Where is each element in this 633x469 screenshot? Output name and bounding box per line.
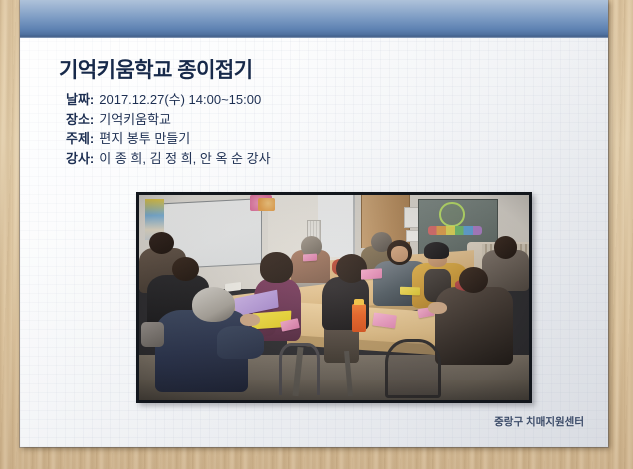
desk-wood-frame: 기억키움학교 종이접기 날짜: 2017.12.27(수) 14:00~15:0… <box>0 0 633 469</box>
photo-person-front-left-head <box>192 287 235 322</box>
photo-chair-right <box>385 339 442 398</box>
photo-person-front-left-hand <box>240 314 260 326</box>
footer-organization: 중랑구 치매지원센터 <box>494 414 584 429</box>
info-value-place: 기억키움학교 <box>99 110 171 130</box>
activity-photo-frame <box>136 192 532 403</box>
info-row-instructors: 강사: 이 종 희, 김 정 희, 안 옥 순 강사 <box>66 149 486 169</box>
info-row-date: 날짜: 2017.12.27(수) 14:00~15:00 <box>66 90 486 110</box>
photo-board-color-dots <box>428 226 483 235</box>
info-list: 날짜: 2017.12.27(수) 14:00~15:00 장소: 기억키움학교… <box>66 90 486 168</box>
activity-photo <box>139 195 529 400</box>
presentation-slide: 기억키움학교 종이접기 날짜: 2017.12.27(수) 14:00~15:0… <box>20 0 608 447</box>
info-value-date: 2017.12.27(수) 14:00~15:00 <box>99 90 261 110</box>
photo-board-circle <box>439 202 464 227</box>
photo-wall-panel-2 <box>406 230 419 242</box>
photo-chair-left <box>141 322 164 347</box>
photo-person-right-2-cap <box>424 242 449 258</box>
page-title: 기억키움학교 종이접기 <box>59 54 253 84</box>
photo-paper-pink-mid <box>361 268 382 280</box>
info-label-place: 장소: <box>66 110 94 130</box>
photo-person-right-front-body <box>435 287 513 365</box>
photo-person-right-front-hand <box>428 302 448 314</box>
photo-instructor-head <box>260 252 293 283</box>
info-row-place: 장소: 기억키움학교 <box>66 110 486 130</box>
info-label-date: 날짜: <box>66 90 94 110</box>
photo-person-front-left-arm <box>217 326 264 359</box>
photo-poster-orange <box>258 198 276 211</box>
photo-juice-bottle <box>352 304 367 333</box>
info-value-instructors: 이 종 희, 김 정 희, 안 옥 순 강사 <box>99 149 270 169</box>
slide-content: 기억키움학교 종이접기 날짜: 2017.12.27(수) 14:00~15:0… <box>20 0 608 447</box>
photo-paper-yellow-right <box>400 287 420 296</box>
photo-juice-bottle-cap <box>354 299 365 305</box>
info-label-topic: 주제: <box>66 129 94 149</box>
info-value-topic: 편지 봉투 만들기 <box>99 129 190 149</box>
info-label-instructors: 강사: <box>66 149 94 169</box>
info-row-topic: 주제: 편지 봉투 만들기 <box>66 129 486 149</box>
photo-person-right-1-face <box>391 246 409 261</box>
photo-window <box>318 195 355 257</box>
photo-person-far-right-head <box>494 236 517 259</box>
